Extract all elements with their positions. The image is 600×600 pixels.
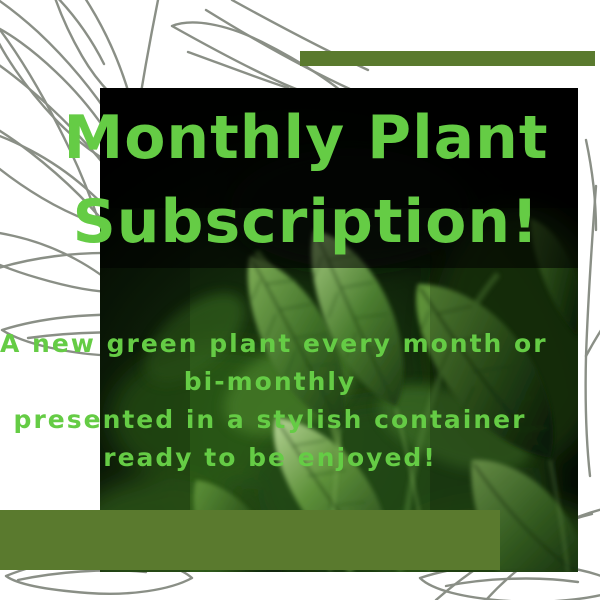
- headline-line-2: Subscription!: [56, 180, 556, 264]
- olive-accent-bar-top: [300, 51, 595, 66]
- page-title: Monthly Plant Subscription!: [56, 96, 556, 264]
- body-line-2: bi-monthly: [0, 363, 540, 401]
- poster-canvas: Monthly Plant Subscription! A new green …: [0, 0, 600, 600]
- body-line-4: ready to be enjoyed!: [0, 439, 540, 477]
- body-line-1: A new green plant every month or: [0, 325, 540, 363]
- olive-accent-bar-bottom-extension: [300, 510, 500, 570]
- olive-accent-bar-bottom: [0, 510, 300, 570]
- body-copy: A new green plant every month or bi-mont…: [0, 325, 540, 477]
- body-line-3: presented in a stylish container: [0, 401, 540, 439]
- headline-line-1: Monthly Plant: [56, 96, 556, 180]
